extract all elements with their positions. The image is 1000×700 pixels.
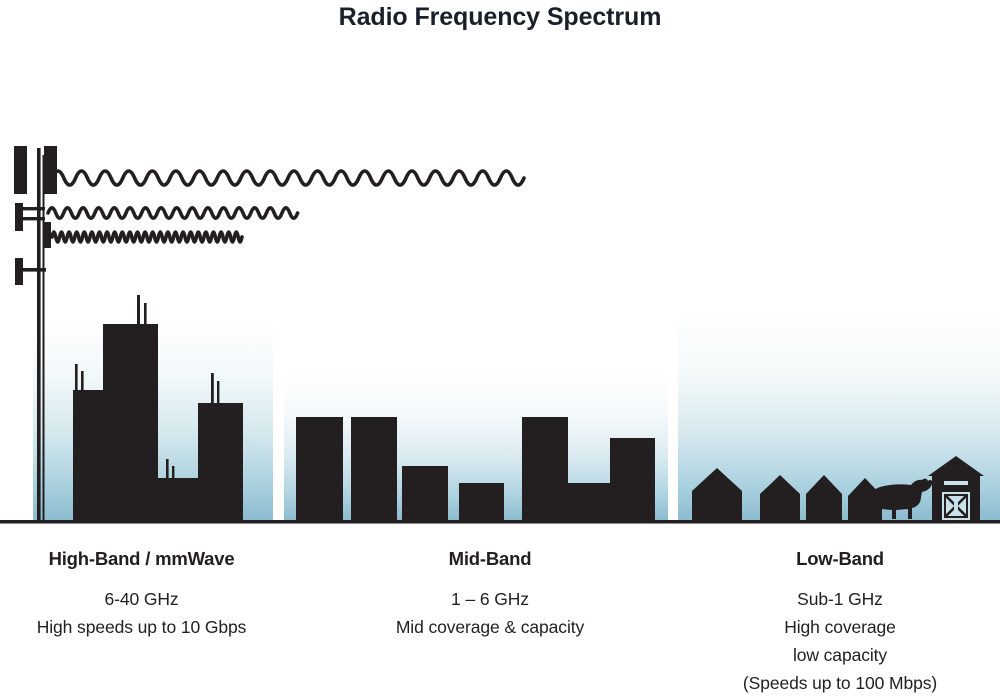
building [351, 417, 397, 520]
building [73, 390, 103, 520]
band-details-mid: 1 – 6 GHz Mid coverage & capacity [340, 585, 640, 641]
antenna-crossbar [15, 217, 45, 220]
spire [217, 381, 219, 405]
antenna-panel [14, 146, 27, 194]
band-details-high: 6-40 GHz High speeds up to 10 Gbps [0, 585, 283, 641]
band-coverage-low: High coverage [680, 613, 1000, 641]
building [198, 403, 243, 520]
building [522, 417, 568, 520]
building [103, 324, 158, 520]
band-heading-high: High-Band / mmWave [0, 548, 283, 570]
spire [166, 459, 169, 479]
ground-line [0, 520, 1000, 524]
building [296, 417, 343, 520]
antenna-crossbar [15, 207, 45, 210]
band-column-high: High-Band / mmWave 6-40 GHz High speeds … [0, 548, 283, 641]
high-frequency-wave-icon [52, 232, 242, 242]
building [158, 478, 205, 520]
spire [211, 373, 214, 404]
band-heading-mid: Mid-Band [340, 548, 640, 570]
band-details-low: Sub-1 GHz High coverage low capacity (Sp… [680, 585, 1000, 697]
band-frequency-mid: 1 – 6 GHz [340, 585, 640, 613]
spire [81, 371, 84, 393]
building [459, 483, 504, 520]
mid-frequency-wave-icon [48, 208, 298, 219]
spire [137, 295, 140, 325]
band-frequency-low: Sub-1 GHz [680, 585, 1000, 613]
band-column-low: Low-Band Sub-1 GHz High coverage low cap… [680, 548, 1000, 697]
tower-mast [37, 148, 41, 522]
spire [144, 303, 147, 327]
band-capacity-low: low capacity [680, 641, 1000, 669]
building [568, 483, 612, 520]
band-column-mid: Mid-Band 1 – 6 GHz Mid coverage & capaci… [340, 548, 640, 641]
building [402, 466, 448, 520]
building [610, 438, 655, 520]
spire [75, 364, 78, 392]
antenna-panel [44, 146, 57, 194]
band-speed-mid: Mid coverage & capacity [340, 613, 640, 641]
band-speed-high: High speeds up to 10 Gbps [0, 613, 283, 641]
antenna-panel [44, 222, 51, 248]
spire [172, 466, 174, 480]
infographic-canvas: Radio Frequency Spectrum [0, 0, 1000, 700]
band-heading-low: Low-Band [680, 548, 1000, 570]
band-speed-low: (Speeds up to 100 Mbps) [680, 669, 1000, 697]
antenna-crossbar [15, 268, 46, 272]
band-frequency-high: 6-40 GHz [0, 585, 283, 613]
low-frequency-wave-icon [52, 171, 524, 185]
